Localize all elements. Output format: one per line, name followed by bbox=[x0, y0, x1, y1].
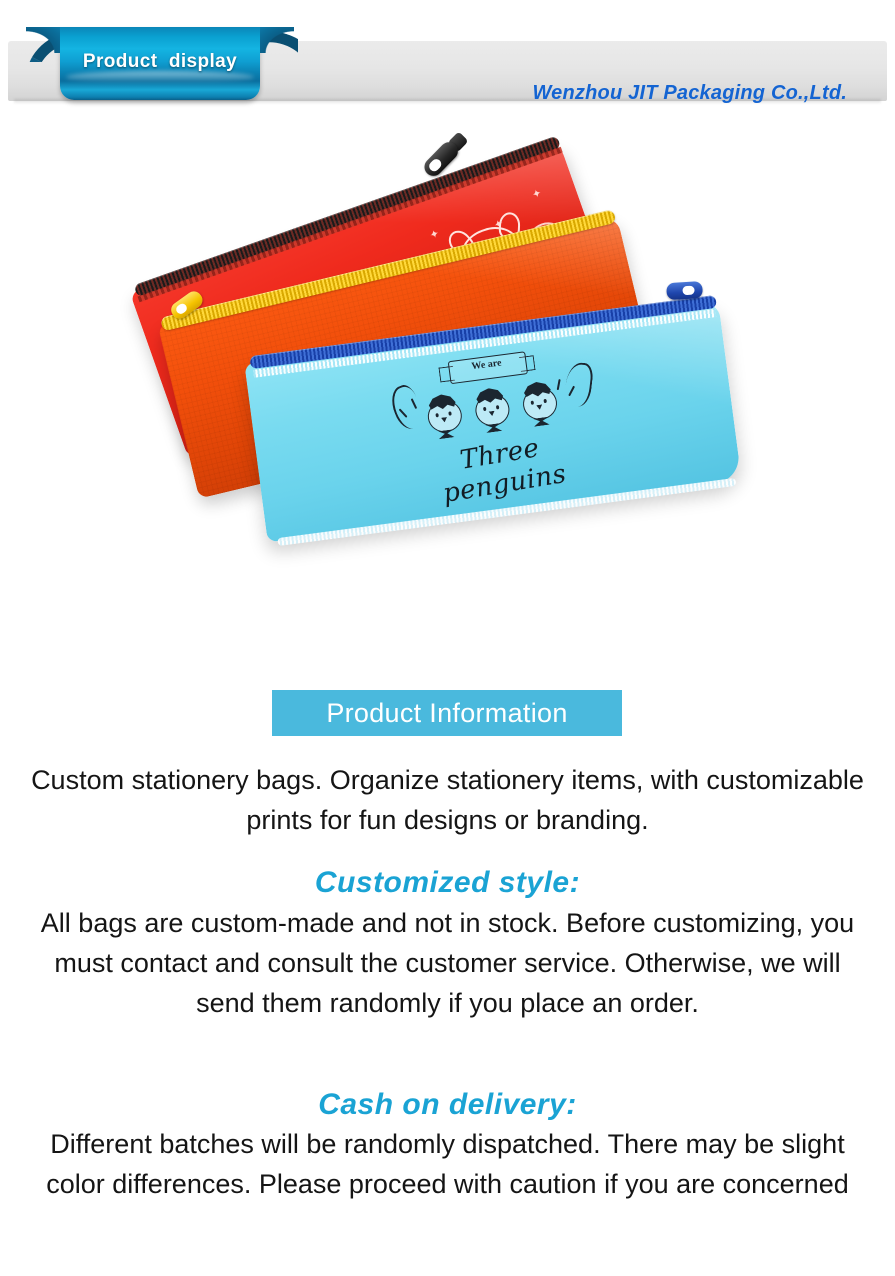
penguin-icon bbox=[469, 384, 513, 439]
penguin-icon bbox=[422, 390, 466, 445]
company-name: Wenzhou JIT Packaging Co.,Ltd. bbox=[532, 82, 847, 105]
product-display-tab[interactable]: Product display bbox=[60, 27, 260, 100]
penguin-icon bbox=[517, 378, 561, 433]
cash-on-delivery-paragraph: Different batches will be randomly dispa… bbox=[30, 1124, 865, 1204]
customized-style-paragraph: All bags are custom-made and not in stoc… bbox=[30, 903, 865, 1023]
product-display-tab-label: Product display bbox=[60, 51, 260, 73]
product-detail-page: Product display Wenzhou JIT Packaging Co… bbox=[0, 0, 895, 1276]
cash-on-delivery-heading: Cash on delivery: bbox=[30, 1088, 865, 1122]
penguin-wing-left-icon bbox=[386, 382, 426, 432]
product-information-banner: Product Information bbox=[272, 690, 622, 736]
page-header: Product display Wenzhou JIT Packaging Co… bbox=[0, 41, 895, 106]
intro-paragraph: Custom stationery bags. Organize station… bbox=[30, 760, 865, 840]
blue-zipper-pull-icon bbox=[656, 281, 705, 303]
penguin-wing-right-icon bbox=[563, 361, 594, 408]
product-photo: ✦ ✦ ✦ ✦ BULLDOG bbox=[0, 150, 895, 650]
product-information-banner-label: Product Information bbox=[326, 698, 567, 729]
customized-style-heading: Customized style: bbox=[30, 866, 865, 900]
